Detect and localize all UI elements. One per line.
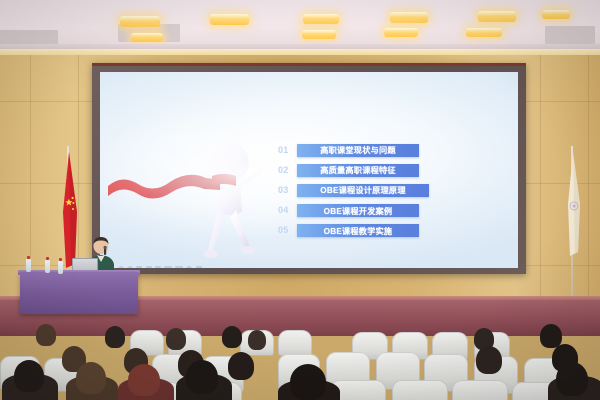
highlighter-icon[interactable] xyxy=(127,266,133,269)
ceiling xyxy=(0,0,600,48)
attendee-head xyxy=(476,346,502,374)
grid-view-icon[interactable] xyxy=(175,266,183,269)
ceiling-light xyxy=(303,14,339,24)
agenda-item[interactable]: 05 OBE课程教学实施 xyxy=(278,224,446,237)
agenda-item-bar: 高职课堂现状与问题 xyxy=(297,144,419,157)
water-bottle xyxy=(26,259,31,272)
presenter-table xyxy=(20,272,138,314)
agenda-item-bar: OBE课程开发案例 xyxy=(297,204,419,217)
bottle-cap-icon xyxy=(27,256,30,259)
fullscreen-icon[interactable] xyxy=(186,266,192,269)
eraser-icon[interactable] xyxy=(136,266,142,269)
ceiling-light xyxy=(466,28,502,37)
attendee-head xyxy=(76,362,106,394)
slide-view-icon[interactable] xyxy=(164,266,172,269)
attendee-head xyxy=(128,364,160,396)
ceiling-light xyxy=(302,30,336,39)
attendee-head xyxy=(186,360,218,394)
agenda-item[interactable]: 02 高质量高职课程特征 xyxy=(278,164,446,177)
projection-screen: 01 高职课堂现状与问题 02 高质量高职课程特征 03 OBE课程设计原理原理… xyxy=(100,72,518,268)
agenda-item-number: 04 xyxy=(278,206,297,215)
agenda-item[interactable]: 01 高职课堂现状与问题 xyxy=(278,144,446,157)
attendee-head xyxy=(556,362,588,396)
attendee-head xyxy=(248,330,266,350)
screen-frame-top-trim xyxy=(92,63,526,66)
agenda-item-number: 05 xyxy=(278,226,297,235)
presentation-toolbar[interactable] xyxy=(118,264,202,268)
ceiling-light xyxy=(120,16,160,27)
attendee-head xyxy=(290,364,326,400)
institution-flag xyxy=(562,152,584,262)
attendee-head xyxy=(228,352,254,380)
ceiling-light xyxy=(542,10,570,19)
lecture-hall-scene: 01 高职课堂现状与问题 02 高质量高职课程特征 03 OBE课程设计原理原理… xyxy=(0,0,600,400)
seat xyxy=(392,380,448,400)
seat xyxy=(278,330,312,356)
agenda-item-number: 01 xyxy=(278,146,297,155)
agenda-item-label: 高职课堂现状与问题 xyxy=(320,144,396,156)
agenda-item-number: 02 xyxy=(278,166,297,175)
agenda-item-label: 高质量高职课程特征 xyxy=(320,164,396,176)
ceiling-light xyxy=(478,11,516,22)
agenda-item-label: OBE课程设计原理原理 xyxy=(320,184,405,196)
close-icon[interactable] xyxy=(155,266,161,269)
water-bottle xyxy=(45,260,50,273)
attendee-head xyxy=(36,324,56,346)
agenda-item-bar: OBE课程设计原理原理 xyxy=(297,184,429,197)
ceiling-vent xyxy=(545,26,595,44)
attendee-head xyxy=(166,328,186,350)
agenda-item[interactable]: 04 OBE课程开发案例 xyxy=(278,204,446,217)
seat xyxy=(452,380,508,400)
bottle-cap-icon xyxy=(59,258,62,261)
attendee-head xyxy=(222,326,242,348)
agenda-item-number: 03 xyxy=(278,186,297,195)
pen-icon[interactable] xyxy=(118,266,124,269)
agenda-item-bar: OBE课程教学实施 xyxy=(297,224,419,237)
agenda-item-bar: 高质量高职课程特征 xyxy=(297,164,419,177)
ceiling-light xyxy=(210,14,249,25)
finish-line-ribbon xyxy=(108,168,236,204)
agenda-item-label: OBE课程开发案例 xyxy=(324,205,393,217)
ceiling-light xyxy=(131,33,163,42)
audience xyxy=(0,318,600,400)
agenda-list: 01 高职课堂现状与问题 02 高质量高职课程特征 03 OBE课程设计原理原理… xyxy=(278,144,446,244)
attendee-head xyxy=(14,360,44,392)
agenda-item-label: OBE课程教学实施 xyxy=(324,225,393,237)
ceiling-light xyxy=(390,12,428,23)
chinese-national-flag xyxy=(57,152,81,270)
water-bottle xyxy=(58,261,63,274)
more-options-icon[interactable] xyxy=(196,266,202,269)
cursor-icon[interactable] xyxy=(146,266,152,269)
attendee-head xyxy=(105,326,125,348)
bottle-cap-icon xyxy=(46,257,49,260)
ceiling-light xyxy=(384,28,418,37)
agenda-item[interactable]: 03 OBE课程设计原理原理 xyxy=(278,184,446,197)
